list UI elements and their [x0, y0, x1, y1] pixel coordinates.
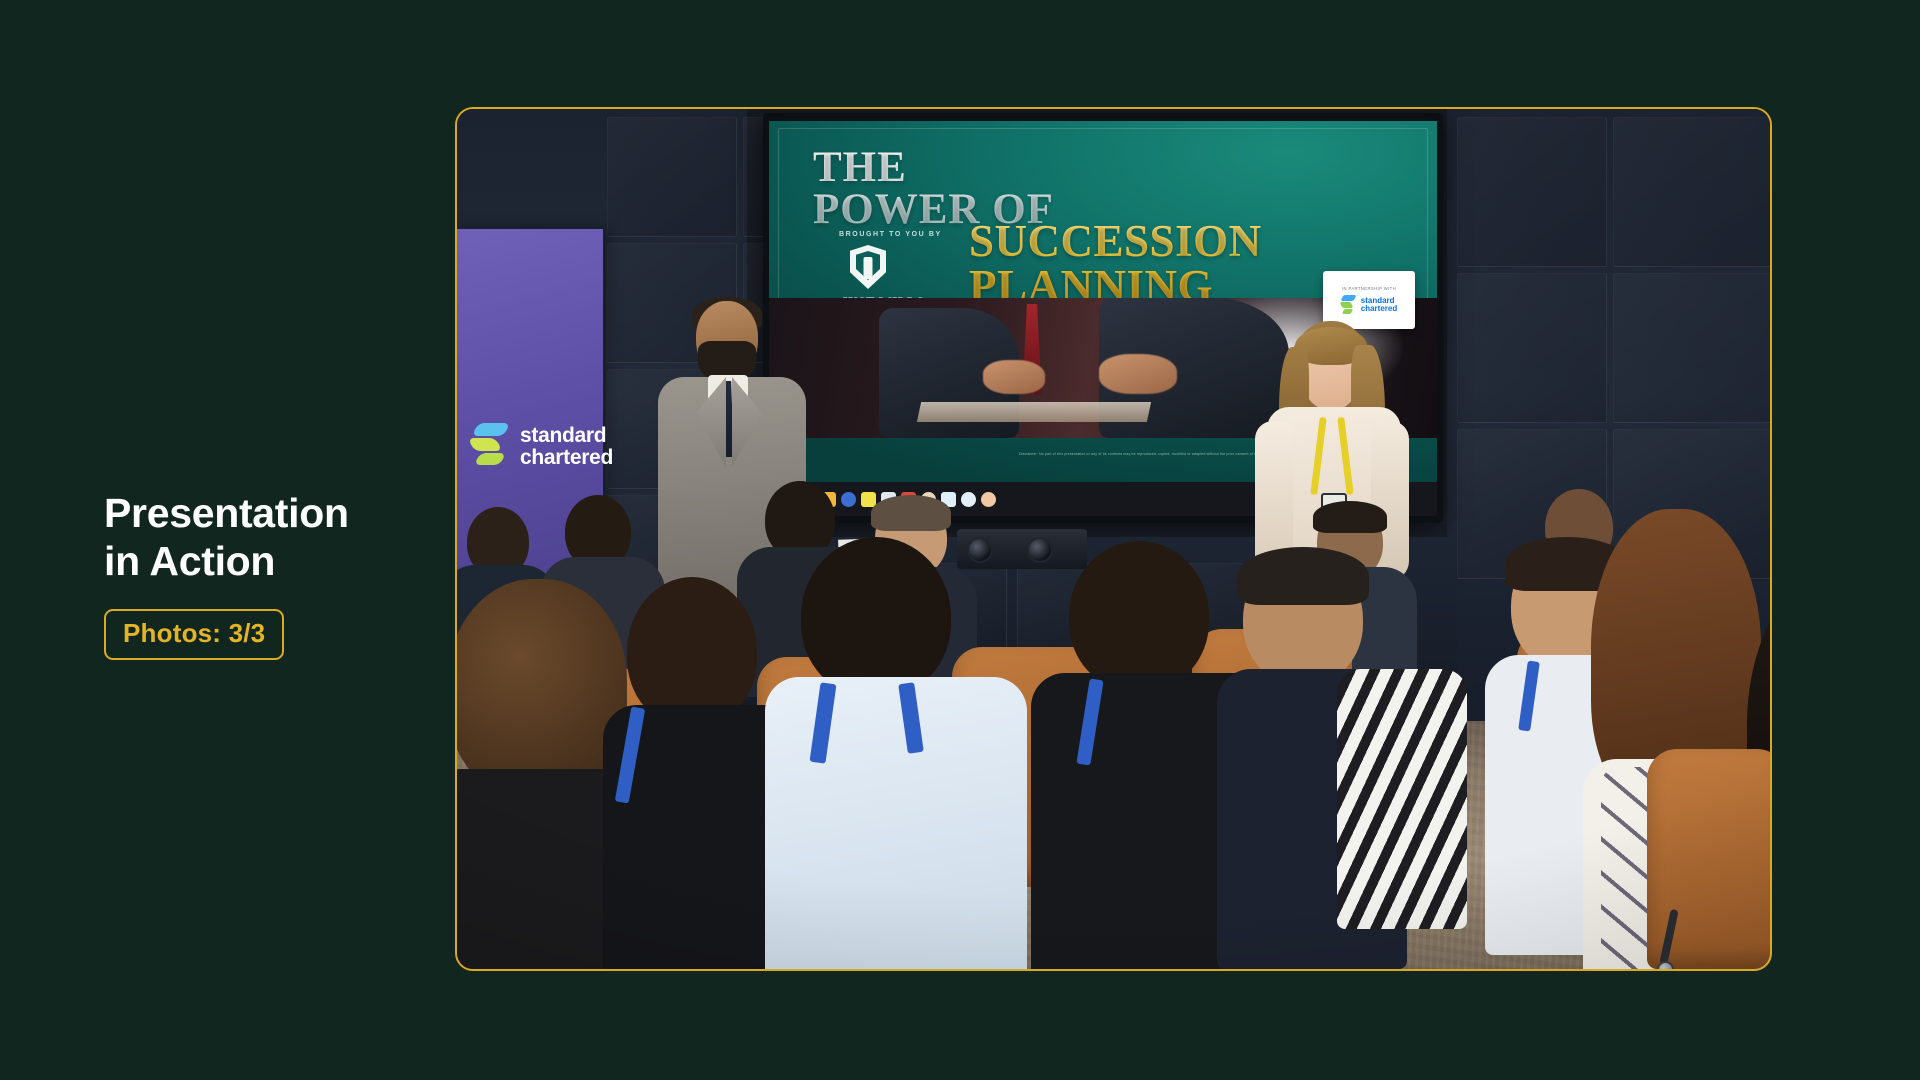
camera-icon — [1027, 537, 1053, 563]
banner-brand-text: standard chartered — [520, 425, 613, 470]
hair — [1313, 501, 1387, 533]
presentation-photo[interactable]: THE POWER OF BROUGHT TO YOU BY JUST WILL… — [455, 107, 1772, 971]
shield-icon — [850, 245, 886, 289]
head — [801, 537, 951, 697]
banner-brand-line-2: chartered — [520, 447, 613, 469]
banner-brand-line-1: standard — [520, 425, 613, 447]
slide-brought-by-label: BROUGHT TO YOU BY — [839, 231, 942, 238]
photo-count-badge: Photos: 3/3 — [104, 609, 284, 660]
edge-icon[interactable] — [841, 492, 856, 507]
person-icon[interactable] — [981, 492, 996, 507]
page-title: Presentation in Action — [104, 490, 424, 585]
head — [1069, 541, 1209, 691]
partner-brand-line-2: chartered — [1361, 305, 1397, 313]
wall-panel — [607, 117, 737, 237]
hair — [871, 495, 951, 531]
standard-chartered-icon — [471, 421, 511, 473]
wall-panel — [1613, 273, 1770, 423]
striped-garment — [1337, 669, 1467, 929]
band-hand-left — [983, 360, 1045, 394]
camera-icon — [967, 537, 993, 563]
hair — [1237, 547, 1369, 605]
band-document — [917, 402, 1151, 422]
wall-panel — [1613, 117, 1770, 267]
curly-hair — [457, 579, 627, 799]
partner-card-brand: standard chartered — [1341, 295, 1397, 315]
wall-panel — [1457, 273, 1607, 423]
bulb-icon[interactable] — [961, 492, 976, 507]
banner-logo: standard chartered — [471, 421, 613, 473]
slide-title-bottom: SUCCESSION PLANNING — [969, 219, 1262, 309]
torso — [765, 677, 1027, 969]
wall-panel — [1457, 117, 1607, 267]
shield-mark — [864, 257, 873, 279]
caption-panel: Presentation in Action Photos: 3/3 — [104, 490, 424, 660]
band-hand-right — [1099, 354, 1177, 394]
photo-scene: THE POWER OF BROUGHT TO YOU BY JUST WILL… — [457, 109, 1770, 969]
partner-card-label: IN PARTNERSHIP WITH — [1342, 286, 1396, 291]
standard-chartered-icon — [1341, 295, 1357, 315]
partner-card-text: standard chartered — [1361, 297, 1397, 313]
notes-icon[interactable] — [861, 492, 876, 507]
